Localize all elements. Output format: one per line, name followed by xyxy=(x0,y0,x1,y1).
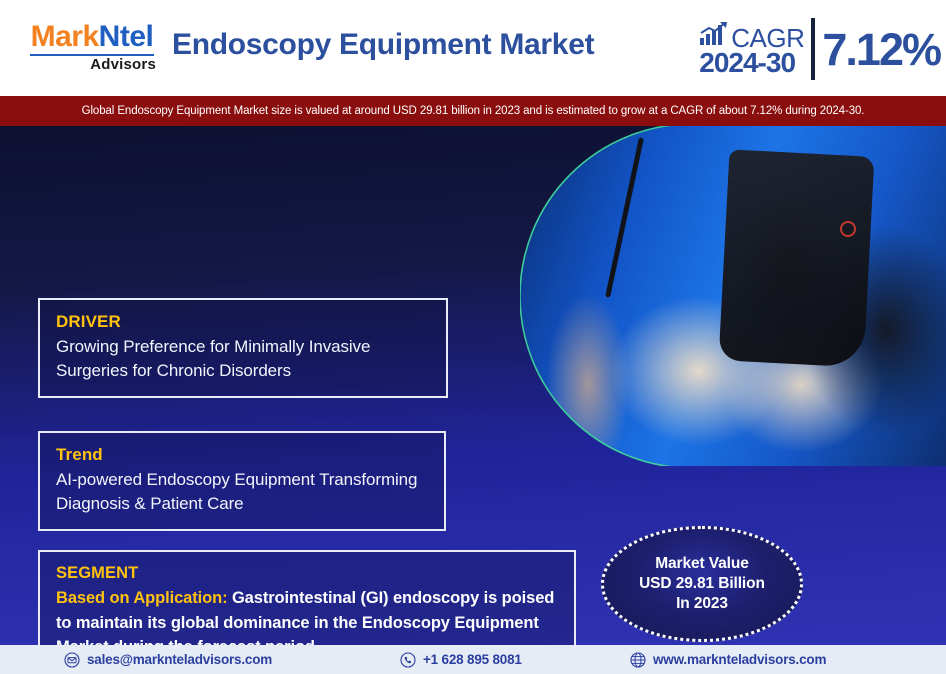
footer-email-text: sales@marknteladvisors.com xyxy=(87,652,272,667)
summary-banner-text: Global Endoscopy Equipment Market size i… xyxy=(82,105,865,117)
bar-chart-up-icon xyxy=(699,21,729,49)
globe-icon xyxy=(630,652,646,668)
segment-body: Based on Application: Gastrointestinal (… xyxy=(56,586,560,645)
summary-banner: Global Endoscopy Equipment Market size i… xyxy=(0,96,946,126)
logo-word-ntel: Ntel xyxy=(99,20,154,53)
market-value-callout: Market Value USD 29.81 Billion In 2023 xyxy=(601,526,803,642)
footer-website-text: www.marknteladvisors.com xyxy=(653,652,826,667)
segment-box: SEGMENT Based on Application: Gastrointe… xyxy=(38,550,576,645)
driver-body: Growing Preference for Minimally Invasiv… xyxy=(56,335,432,385)
footer-website[interactable]: www.marknteladvisors.com xyxy=(630,652,826,668)
footer-email[interactable]: sales@marknteladvisors.com xyxy=(64,652,272,668)
cagr-badge: CAGR 2024-30 7.12% xyxy=(699,14,940,84)
market-value-line3: In 2023 xyxy=(676,594,728,614)
logo-wordmark: MarkNtel xyxy=(22,22,162,52)
market-value-line1: Market Value xyxy=(655,554,749,574)
header-bar: MarkNtel Advisors Endoscopy Equipment Ma… xyxy=(0,0,946,96)
page-title: Endoscopy Equipment Market xyxy=(172,28,594,62)
footer-phone[interactable]: +1 628 895 8081 xyxy=(400,652,522,668)
trend-kicker: Trend xyxy=(56,443,430,468)
infographic-page: MarkNtel Advisors Endoscopy Equipment Ma… xyxy=(0,0,946,674)
segment-lead-label: Based on Application: xyxy=(56,589,227,607)
footer-bar: sales@marknteladvisors.com +1 628 895 80… xyxy=(0,645,946,674)
envelope-icon xyxy=(64,652,80,668)
brand-logo[interactable]: MarkNtel Advisors xyxy=(22,22,162,72)
market-value-line2: USD 29.81 Billion xyxy=(639,574,765,594)
driver-box: DRIVER Growing Preference for Minimally … xyxy=(38,298,448,398)
cagr-period: 2024-30 xyxy=(699,50,795,77)
cagr-top-row: CAGR xyxy=(699,21,804,50)
footer-phone-text: +1 628 895 8081 xyxy=(423,652,522,667)
logo-word-mark: Mark xyxy=(31,20,99,53)
trend-box: Trend AI-powered Endoscopy Equipment Tra… xyxy=(38,431,446,531)
body-area: DRIVER Growing Preference for Minimally … xyxy=(0,126,946,645)
cagr-label-group: CAGR 2024-30 xyxy=(699,21,811,77)
endoscopy-photo-panel xyxy=(520,126,946,466)
endoscope-cable xyxy=(605,137,644,298)
logo-subtitle: Advisors xyxy=(22,57,162,72)
trend-body: AI-powered Endoscopy Equipment Transform… xyxy=(56,468,430,518)
endoscope-handle xyxy=(719,150,875,368)
cagr-value: 7.12% xyxy=(815,27,940,72)
driver-kicker: DRIVER xyxy=(56,310,432,335)
segment-kicker: SEGMENT xyxy=(56,562,560,586)
phone-icon xyxy=(400,652,416,668)
endoscope-lens-icon xyxy=(840,221,856,237)
endoscopy-photo xyxy=(520,126,946,466)
